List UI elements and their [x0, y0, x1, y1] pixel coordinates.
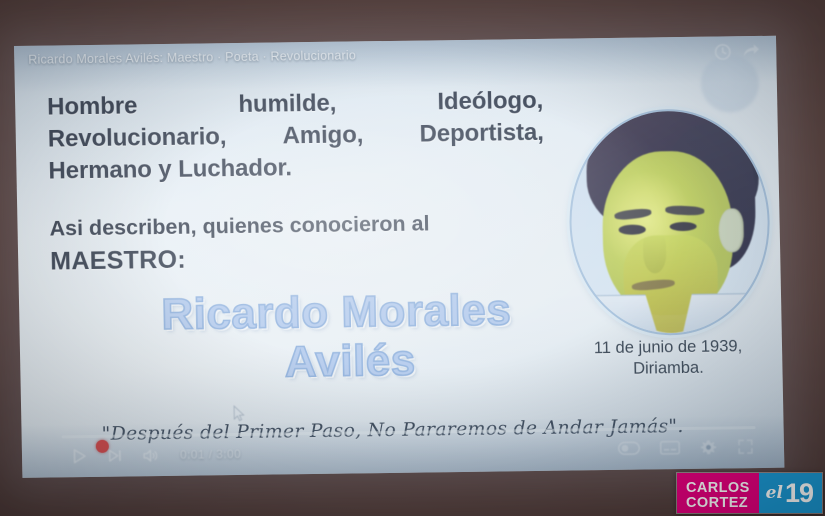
portrait-nose — [642, 233, 666, 273]
watermark-brand-line-1: CARLOS — [686, 481, 750, 496]
subtitles-icon[interactable] — [660, 440, 680, 455]
settings-gear-icon[interactable] — [700, 439, 717, 456]
time-display: 0:01 / 3:00 — [180, 447, 241, 462]
volume-icon[interactable] — [142, 447, 159, 464]
portrait-collar-left — [567, 295, 657, 335]
portrait-illustration — [569, 110, 769, 335]
headline-word-humilde: humilde, — [238, 88, 336, 121]
fullscreen-icon[interactable] — [737, 438, 754, 455]
video-controls-bar: 0:01 / 3:00 — [21, 416, 784, 478]
next-video-icon[interactable] — [107, 448, 123, 464]
progress-scrubber[interactable] — [62, 426, 756, 438]
birth-date: 11 de junio de 1939, — [568, 336, 768, 360]
headline-word-amigo: Amigo, — [282, 119, 363, 152]
headline-line-hermano: Hermano y Luchador. — [48, 154, 292, 184]
portrait-ear — [718, 208, 744, 253]
watermark-channel: el 19 — [759, 473, 822, 513]
watermark-channel-el: el — [766, 485, 783, 502]
slide-headline: Hombre humilde, Ideólogo, Revolucionario… — [47, 85, 545, 187]
projection-surface: Hombre humilde, Ideólogo, Revolucionario… — [14, 36, 784, 478]
wordart-line-2: Avilés — [92, 334, 583, 390]
slide-birth-caption: 11 de junio de 1939, Diriamba. — [568, 336, 769, 382]
watermark-channel-number: 19 — [785, 480, 813, 507]
headline-word-revolucionario: Revolucionario, — [48, 121, 227, 155]
share-icon[interactable] — [741, 42, 760, 61]
birth-place: Diriamba. — [568, 357, 768, 381]
headline-word-deportista: Deportista, — [419, 117, 544, 151]
slide-describe-block: Asi describen, quienes conocieron al MAE… — [49, 207, 550, 280]
video-topbar-actions — [713, 42, 760, 62]
broadcaster-watermark: CARLOS CORTEZ el 19 — [676, 472, 823, 514]
presentation-slide: Hombre humilde, Ideólogo, Revolucionario… — [14, 36, 784, 478]
controls-left-group: 0:01 / 3:00 — [70, 445, 241, 465]
watch-later-icon[interactable] — [713, 42, 732, 61]
autoplay-toggle-icon[interactable] — [618, 441, 640, 456]
describe-line-maestro: MAESTRO: — [50, 237, 551, 279]
controls-right-group — [618, 438, 754, 457]
watermark-brand: CARLOS CORTEZ — [677, 473, 759, 513]
slide-wordart-name: Ricardo Morales Avilés — [91, 284, 583, 389]
wordart-line-1: Ricardo Morales — [91, 284, 582, 340]
watermark-brand-line-2: CORTEZ — [686, 496, 750, 511]
screenshot-root: Hombre humilde, Ideólogo, Revolucionario… — [0, 0, 825, 516]
projected-screen: Hombre humilde, Ideólogo, Revolucionario… — [14, 36, 784, 478]
headline-word-hombre: Hombre — [47, 90, 138, 123]
portrait-collar-right — [683, 293, 772, 333]
portrait-eye-left — [619, 225, 647, 235]
play-icon[interactable] — [70, 447, 88, 465]
headline-word-ideologo: Ideólogo, — [437, 85, 543, 118]
portrait-ricardo-morales-aviles — [567, 108, 771, 337]
